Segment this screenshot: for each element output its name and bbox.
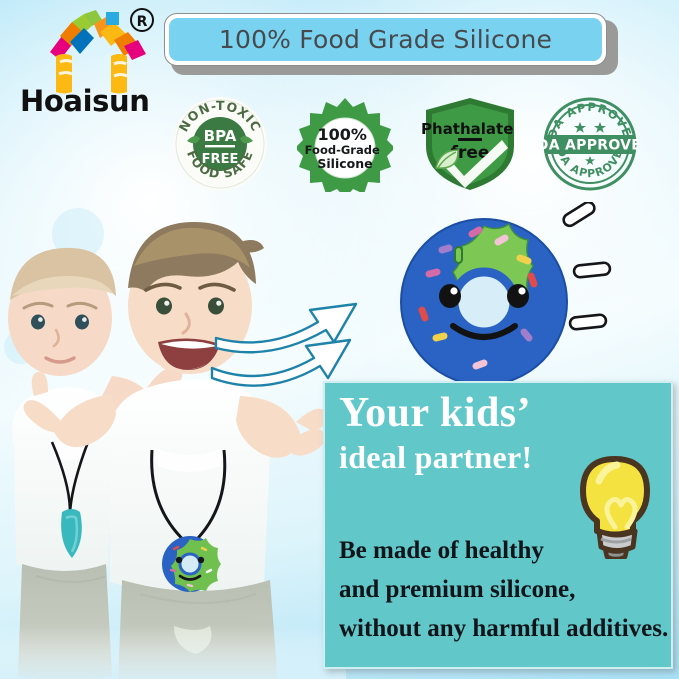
certification-badges: BPA FREE NON-TOXIC FOOD SAFE bbox=[172, 96, 672, 196]
brand-logo: R Hoaisun bbox=[14, 6, 164, 121]
donut-chew-pendant-product bbox=[398, 216, 570, 388]
panel-body-line1: Be made of healthy bbox=[339, 531, 669, 570]
product-marketing-image: R Hoaisun 100% Food Grade Silicone BPA bbox=[0, 0, 679, 679]
svg-text:FDA APPROVED: FDA APPROVED bbox=[542, 138, 638, 154]
registered-trademark-icon: R bbox=[131, 9, 153, 31]
panel-body-line2: and premium silicone, bbox=[339, 570, 669, 609]
panel-heading-line2: ideal partner! bbox=[339, 437, 569, 477]
brand-name: Hoaisun bbox=[20, 84, 170, 118]
phthalate-free-badge: Phathalate free bbox=[420, 96, 516, 192]
fda-stamp-icon: FDA APPROVED FDA APPROVED FDA APPROVED bbox=[542, 96, 638, 192]
panel-body: Be made of healthy and premium silicone,… bbox=[339, 531, 669, 648]
bpa-free-badge: BPA FREE NON-TOXIC FOOD SAFE bbox=[172, 96, 268, 192]
banner-text: 100% Food Grade Silicone bbox=[219, 25, 552, 54]
two-kids-wearing-chew-necklaces-photo bbox=[0, 196, 346, 679]
bpa-free-seal-icon: BPA FREE NON-TOXIC FOOD SAFE bbox=[172, 96, 268, 192]
shine-marks bbox=[552, 202, 622, 342]
banner-inner: 100% Food Grade Silicone bbox=[169, 18, 602, 61]
food-grade-badge: 100% Food-Grade Silicone bbox=[297, 96, 393, 192]
panel-heading-line1: Your kids’ bbox=[339, 389, 569, 437]
panel-heading: Your kids’ ideal partner! bbox=[339, 389, 569, 477]
banner-frame: 100% Food Grade Silicone bbox=[164, 13, 607, 66]
fda-approved-badge: FDA APPROVED FDA APPROVED FDA APPROVED bbox=[542, 96, 638, 192]
svg-text:BPA: BPA bbox=[204, 127, 237, 145]
shield-check-icon: Phathalate free bbox=[420, 96, 520, 192]
starburst-seal-icon: 100% Food-Grade Silicone bbox=[297, 96, 393, 192]
header-banner: 100% Food Grade Silicone bbox=[164, 13, 611, 70]
kids-photo-illustration bbox=[0, 196, 346, 679]
info-panel: Your kids’ ideal partner! Be made of hea… bbox=[323, 381, 673, 669]
svg-text:R: R bbox=[137, 14, 148, 30]
shine-mark-icon bbox=[552, 202, 622, 342]
panel-body-line3: without any harmful additives. bbox=[339, 609, 669, 648]
house-logo-icon: R bbox=[14, 6, 164, 96]
donut-chew-pendant-icon bbox=[398, 216, 570, 388]
